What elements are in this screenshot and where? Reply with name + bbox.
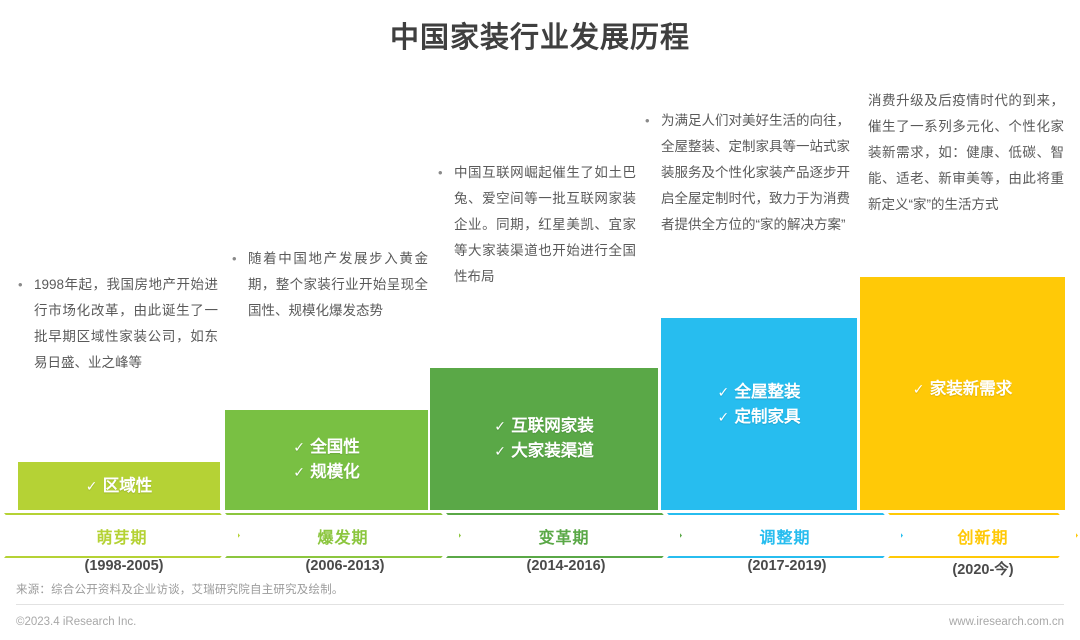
- bar-item-label: 全屋整装: [735, 383, 801, 401]
- bullet-icon-3: •: [438, 160, 454, 186]
- timeline-date-3: (2014-2016): [456, 558, 676, 574]
- check-icon: ✓: [494, 439, 511, 464]
- stage-bar-4: ✓全屋整装 ✓定制家具: [661, 318, 857, 510]
- stage-description-5: 消费升级及后疫情时代的到来，催生了一系列多元化、个性化家装新需求，如：健康、低碳…: [868, 88, 1064, 218]
- timeline-phase-4[interactable]: 调整期: [667, 513, 903, 558]
- stage-bar-5: ✓家装新需求: [860, 277, 1065, 510]
- bar-item-label: 规模化: [310, 463, 360, 481]
- check-icon: ✓: [718, 380, 735, 405]
- timeline-phase-2[interactable]: 爆发期: [225, 513, 461, 558]
- footer-copyright: ©2023.4 iResearch Inc.: [16, 616, 136, 628]
- page-title: 中国家装行业发展历程: [0, 14, 1080, 56]
- infographic-canvas: 中国家装行业发展历程 • 1998年起，我国房地产开始进行市场化改革，由此诞生了…: [0, 0, 1080, 640]
- source-note: 来源：综合公开资料及企业访谈，艾瑞研究院自主研究及绘制。: [16, 581, 344, 597]
- bar-item-label: 互联网家装: [511, 417, 594, 435]
- timeline-date-1: (1998-2005): [14, 558, 234, 574]
- stage-description-text-3: 中国互联网崛起催生了如土巴兔、爱空间等一批互联网家装企业。同期，红星美凯、宜家等…: [454, 160, 636, 290]
- footer-divider: [16, 604, 1064, 605]
- timeline-phase-label-3: 变革期: [538, 524, 589, 548]
- check-icon: ✓: [293, 460, 310, 485]
- bar-item-label: 区域性: [103, 477, 153, 495]
- bar-item: ✓定制家具: [718, 405, 801, 430]
- bar-item: ✓全国性: [293, 435, 360, 460]
- bar-item: ✓规模化: [293, 460, 360, 485]
- stage-bar-labels-4: ✓全屋整装 ✓定制家具: [718, 380, 801, 430]
- timeline-date-row: (1998-2005) (2006-2013) (2014-2016) (201…: [0, 558, 1080, 580]
- bar-item-label: 家装新需求: [930, 380, 1013, 398]
- bullet-icon-2: •: [232, 246, 248, 272]
- timeline-phase-label-4: 调整期: [759, 524, 810, 548]
- check-icon: ✓: [494, 414, 511, 439]
- timeline-phase-3[interactable]: 变革期: [446, 513, 682, 558]
- stage-description-text-4: 为满足人们对美好生活的向往，全屋整装、定制家具等一站式家装服务及个性化家装产品逐…: [661, 108, 850, 238]
- check-icon: ✓: [86, 474, 103, 499]
- bullet-icon-1: •: [18, 272, 34, 298]
- bar-item-label: 大家装渠道: [511, 442, 594, 460]
- timeline-phase-label-1: 萌芽期: [96, 524, 147, 548]
- bullet-icon-4: •: [645, 108, 661, 134]
- stage-description-text-1: 1998年起，我国房地产开始进行市场化改革，由此诞生了一批早期区域性家装公司，如…: [34, 272, 218, 376]
- timeline-date-5: (2020-今): [888, 558, 1078, 579]
- stage-bar-labels-3: ✓互联网家装 ✓大家装渠道: [494, 414, 594, 464]
- stage-bar-1: ✓区域性: [18, 462, 220, 510]
- bar-item: ✓家装新需求: [913, 377, 1013, 402]
- stage-bar-3: ✓互联网家装 ✓大家装渠道: [430, 368, 658, 510]
- check-icon: ✓: [913, 377, 930, 402]
- timeline-date-4: (2017-2019): [677, 558, 897, 574]
- stage-bar-labels-2: ✓全国性 ✓规模化: [293, 435, 360, 485]
- timeline-phase-1[interactable]: 萌芽期: [4, 513, 240, 558]
- stage-description-2: • 随着中国地产发展步入黄金期，整个家装行业开始呈现全国性、规模化爆发态势: [232, 246, 428, 324]
- timeline-phase-5[interactable]: 创新期: [888, 513, 1078, 558]
- stage-description-text-2: 随着中国地产发展步入黄金期，整个家装行业开始呈现全国性、规模化爆发态势: [248, 246, 428, 324]
- stage-bar-labels-1: ✓区域性: [86, 474, 153, 499]
- stage-bar-2: ✓全国性 ✓规模化: [225, 410, 428, 510]
- stage-description-1: • 1998年起，我国房地产开始进行市场化改革，由此诞生了一批早期区域性家装公司…: [18, 272, 218, 376]
- bar-item: ✓区域性: [86, 474, 153, 499]
- bar-item: ✓全屋整装: [718, 380, 801, 405]
- bar-item-label: 全国性: [310, 438, 360, 456]
- bar-item: ✓大家装渠道: [494, 439, 594, 464]
- footer-website[interactable]: www.iresearch.com.cn: [949, 616, 1064, 628]
- check-icon: ✓: [293, 435, 310, 460]
- bar-item: ✓互联网家装: [494, 414, 594, 439]
- stage-description-text-5: 消费升级及后疫情时代的到来，催生了一系列多元化、个性化家装新需求，如：健康、低碳…: [868, 88, 1064, 218]
- timeline-phase-label-5: 创新期: [957, 524, 1008, 548]
- timeline-arrow-bar: 萌芽期 爆发期 变革期 调整期 创新期: [0, 513, 1080, 558]
- timeline-phase-label-2: 爆发期: [317, 524, 368, 548]
- check-icon: ✓: [718, 405, 735, 430]
- bar-item-label: 定制家具: [735, 408, 801, 426]
- stage-description-4: • 为满足人们对美好生活的向往，全屋整装、定制家具等一站式家装服务及个性化家装产…: [645, 108, 850, 238]
- stage-bar-labels-5: ✓家装新需求: [913, 377, 1013, 402]
- timeline-date-2: (2006-2013): [235, 558, 455, 574]
- stage-description-3: • 中国互联网崛起催生了如土巴兔、爱空间等一批互联网家装企业。同期，红星美凯、宜…: [438, 160, 636, 290]
